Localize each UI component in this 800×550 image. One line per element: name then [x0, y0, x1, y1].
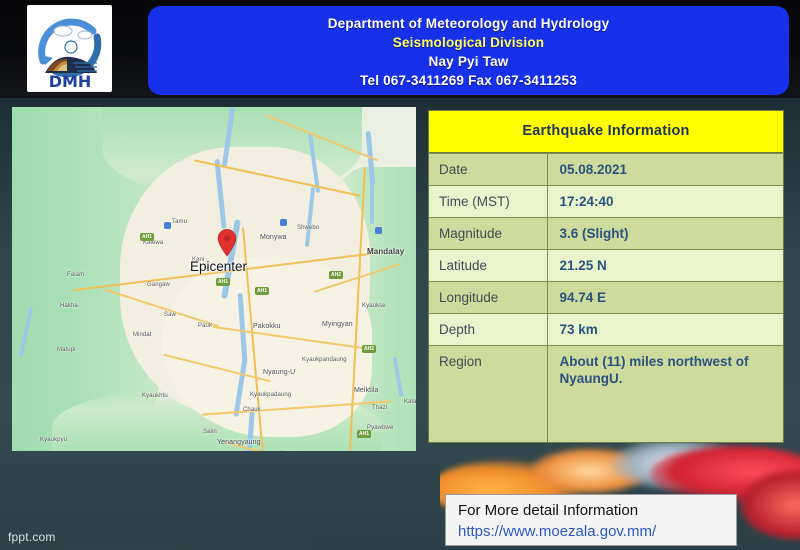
highway-shield-icon: AH1 [357, 430, 371, 438]
info-row-key: Date [429, 154, 547, 186]
website-link[interactable]: https://www.moezala.gov.mm/ [458, 521, 736, 542]
info-row: Latitude21.25 N [429, 250, 783, 282]
highway-shield-icon: AH1 [140, 233, 154, 241]
info-row-value: 3.6 (Slight) [547, 218, 783, 250]
map-label: Saw [164, 312, 176, 318]
map-poi-icon [280, 219, 287, 226]
info-row-key: Latitude [429, 250, 547, 282]
epicenter-label: Epicenter [190, 259, 247, 274]
info-row-key: Time (MST) [429, 186, 547, 218]
info-row: Date05.08.2021 [429, 154, 783, 186]
info-row-value: 17:24:40 [547, 186, 783, 218]
banner-line-0: Department of Meteorology and Hydrology [328, 14, 610, 33]
map-label: Salin [203, 429, 217, 435]
info-row-key: Region [429, 346, 547, 442]
map-label: Hakha [60, 303, 78, 309]
map-label: Kyaukse [362, 303, 386, 309]
slide-canvas: DMH Department of Meteorology and Hydrol… [0, 0, 800, 550]
epicenter-marker-icon[interactable] [217, 229, 237, 257]
earthquake-info-panel: Earthquake Information Date05.08.2021Tim… [428, 110, 784, 443]
banner-line-1: Seismological Division [393, 33, 544, 52]
info-row: Time (MST)17:24:40 [429, 186, 783, 218]
map-poi-icon [164, 222, 171, 229]
map-label: Yenangyaung [217, 439, 261, 446]
map-label: Kyaukpadaung [250, 392, 291, 398]
svg-text:DMH: DMH [48, 72, 91, 89]
info-row: Magnitude3.6 (Slight) [429, 218, 783, 250]
map-label: Gangaw [147, 282, 170, 288]
more-information-title: For More detail Information [458, 500, 736, 521]
banner-line-3: Tel 067-3411269 Fax 067-3411253 [360, 71, 577, 90]
info-row-value: 73 km [547, 314, 783, 346]
map-label: Thazi [372, 405, 387, 411]
highway-shield-icon: AH2 [329, 271, 343, 279]
map-label: Chauk [243, 407, 261, 413]
info-row-value: About (11) miles northwest of NyaungU. [547, 346, 783, 442]
map-label: Pauk [198, 323, 212, 329]
map-label: Mindat [133, 332, 152, 338]
title-banner: Department of Meteorology and Hydrology … [148, 6, 789, 95]
info-row: RegionAbout (11) miles northwest of Nyau… [429, 346, 783, 442]
fppt-watermark: fppt.com [8, 530, 56, 544]
map-label: Tamu [172, 219, 187, 225]
map-label: Nyaung-U [263, 369, 295, 376]
map-label: Matupi [57, 347, 76, 353]
map-label: Kyaukhtu [142, 393, 168, 399]
info-row-value: 05.08.2021 [547, 154, 783, 186]
highway-shield-icon: AH2 [362, 345, 376, 353]
info-panel-title: Earthquake Information [429, 111, 783, 153]
info-row-value: 94.74 E [547, 282, 783, 314]
info-table: Date05.08.2021Time (MST)17:24:40Magnitud… [429, 153, 783, 442]
map-label: Pyawbwe [367, 425, 393, 431]
dmh-logo: DMH [27, 5, 112, 92]
info-row-key: Longitude [429, 282, 547, 314]
map-label: Falam [67, 272, 84, 278]
highway-shield-icon: AH1 [216, 278, 230, 286]
map-label: Myingyan [322, 321, 353, 328]
map-tiles [12, 107, 416, 451]
highway-shield-icon: AH1 [255, 287, 269, 295]
map-label: Kalaw [404, 399, 416, 405]
map-label: Monywa [260, 234, 287, 241]
water-cycle-icon: DMH [31, 9, 109, 89]
info-row: Longitude94.74 E [429, 282, 783, 314]
map-label: Pakokku [253, 323, 281, 330]
map-poi-icon [375, 227, 382, 234]
info-row-key: Depth [429, 314, 547, 346]
info-row-value: 21.25 N [547, 250, 783, 282]
info-row: Depth73 km [429, 314, 783, 346]
banner-line-2: Nay Pyi Taw [429, 52, 509, 71]
map-label: Kyaukpyu [40, 437, 67, 443]
map-label: Kyaukpandaung [302, 357, 347, 363]
info-row-key: Magnitude [429, 218, 547, 250]
map-label: Meiktila [354, 387, 379, 394]
map-label: Mandalay [367, 247, 404, 256]
map-label: Shwebo [297, 225, 319, 231]
epicenter-map[interactable]: MandalayMonywaPakokkuMyingyanNyaung-UMei… [12, 107, 416, 451]
more-information-box[interactable]: For More detail Information https://www.… [445, 494, 737, 546]
